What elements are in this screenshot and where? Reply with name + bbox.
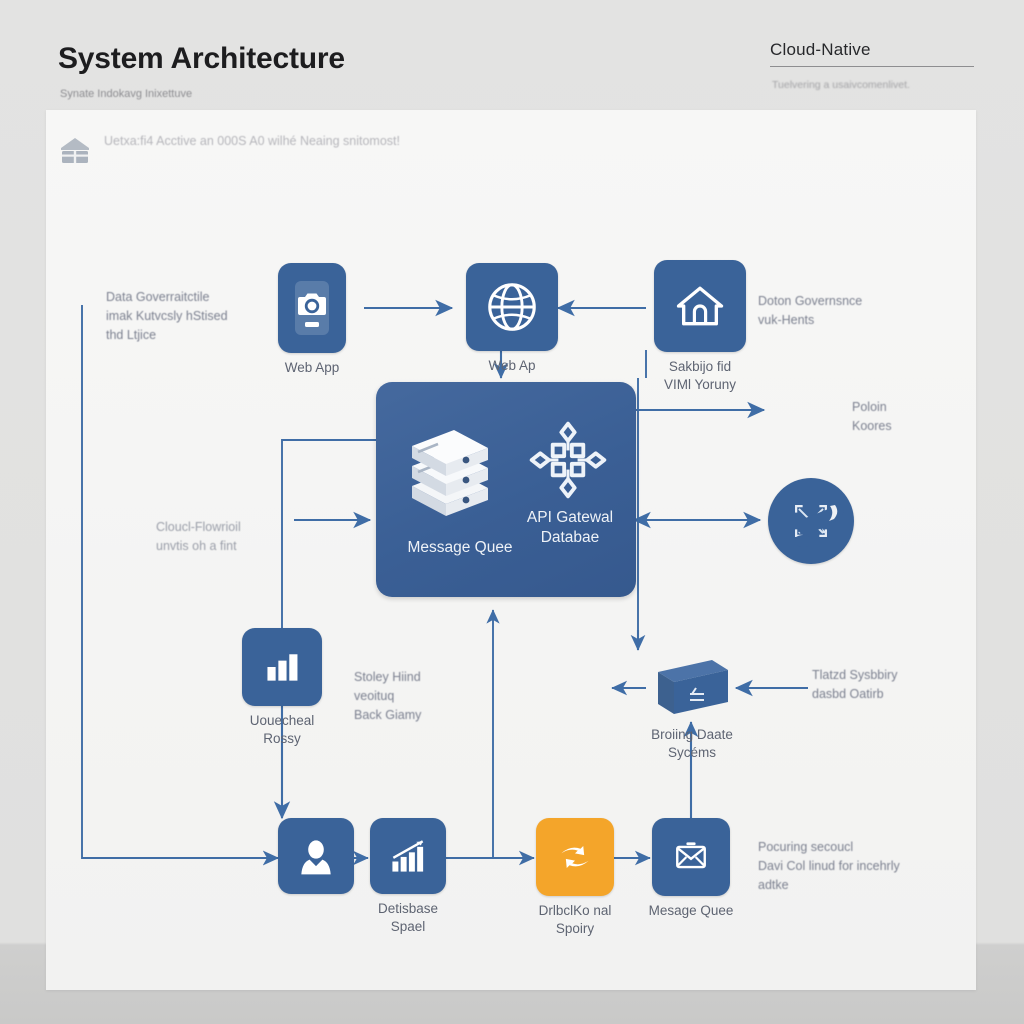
megaphone-icon <box>791 500 847 550</box>
brand-tagline: Tuelvering a usaivcomenlivet. <box>772 79 910 91</box>
home-icon <box>654 260 746 352</box>
diagram-page: System Architecture Synate Indokavg Inix… <box>0 0 1024 1024</box>
node-label: Web App <box>237 359 387 377</box>
node-envelope[interactable]: Mesage Quee <box>652 818 730 896</box>
annotation-cube-side: Tlatzd Sysbbiry dasbd Oatirb <box>812 666 976 704</box>
node-label: Sakbijo fid VIMl Yoruny <box>625 358 775 394</box>
annotation-left-mid: Cloucl-Flowrioil unvtis oh a fint <box>156 518 336 556</box>
sync-arrows-icon <box>536 818 614 896</box>
server-stack-icon <box>402 412 498 529</box>
user-icon <box>278 818 354 894</box>
brand-divider <box>770 66 974 67</box>
annotation-megaphone: Poloin Koores <box>852 398 972 436</box>
node-bars[interactable]: Uouecheal Rossy <box>242 628 322 706</box>
annotation-bars-side: Stoley Hiind veoituq Back Giamy <box>354 668 504 724</box>
node-globe[interactable]: Web Ap <box>466 263 558 351</box>
hub-right-label: API Gatewal Databae <box>508 508 632 548</box>
annotation-left-top: Data Goverraitctile imak Kutvcsly hStise… <box>106 288 296 344</box>
server-cube-icon <box>650 650 734 722</box>
node-house[interactable]: Sakbijo fid VIMl Yoruny <box>654 260 746 352</box>
node-growth[interactable]: Detisbase Spael <box>370 818 446 894</box>
node-label: Uouecheal Rossy <box>207 712 357 748</box>
node-sync[interactable]: DrlbclKo nal Spoiry <box>536 818 614 896</box>
annotation-bottom-side: Pocuring secoucl Davi Col linud for ince… <box>758 838 976 894</box>
annotation-right-top: Doton Governsnce vuk-Hents <box>758 292 948 330</box>
page-title: System Architecture <box>58 42 345 76</box>
node-person[interactable] <box>278 818 354 894</box>
node-label: Detisbase Spael <box>333 900 483 936</box>
node-label: Web Ap <box>437 357 587 375</box>
brand-label: Cloud-Native <box>770 40 871 60</box>
node-cube[interactable]: Broiing Daate Sycéms <box>650 650 734 722</box>
snowflake-cluster-icon <box>524 416 612 509</box>
node-label: Mesage Quee <box>616 902 766 920</box>
page-subtitle: Synate Indokavg Inixettuve <box>60 88 192 100</box>
growth-chart-icon <box>370 818 446 894</box>
diagram-canvas: Uetxa:fi4 Acctive an 000S A0 wilhé Neain… <box>46 110 976 990</box>
envelope-icon <box>652 818 730 896</box>
page-header: System Architecture Synate Indokavg Inix… <box>0 0 1024 110</box>
hub-panel[interactable]: Message Quee <box>376 382 636 597</box>
globe-icon <box>466 263 558 351</box>
bar-chart-icon <box>242 628 322 706</box>
node-label: Broiing Daate Sycéms <box>617 726 767 762</box>
